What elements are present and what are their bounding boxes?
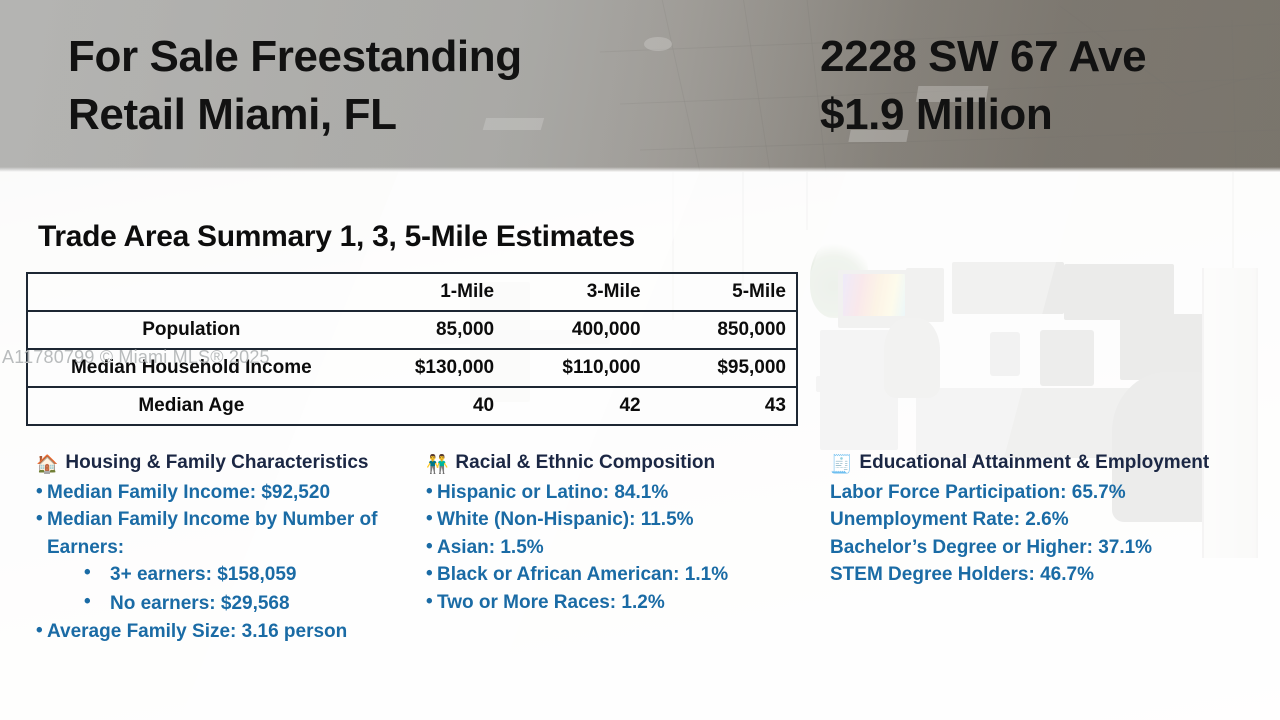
housing-sub-list: 3+ earners: $158,059 No earners: $29,568 [84,561,418,618]
cell-population-5-mile: 850,000 [651,311,797,349]
list-item: Median Family Income: $92,520 [36,479,418,507]
info-column-housing: 🏠Housing & Family Characteristics Median… [0,450,418,646]
cell-age-3-mile: 42 [504,387,650,425]
table-row: Population 85,000 400,000 850,000 [27,311,797,349]
column-heading-text: Educational Attainment & Employment [859,452,1209,473]
list-item: Hispanic or Latino: 84.1% [426,479,808,507]
list-item: Asian: 1.5% [426,534,808,562]
slide-root: For Sale Freestanding Retail Miami, FL 2… [0,0,1280,720]
housing-bullet-list: Median Family Income: $92,520 Median Fam… [36,479,418,562]
list-item: Two or More Races: 1.2% [426,589,808,617]
list-item: Average Family Size: 3.16 person [36,618,418,646]
table-header: 1-Mile 3-Mile 5-Mile [27,273,797,311]
column-heading-racial-ethnic: 👬Racial & Ethnic Composition [426,450,808,478]
list-item: White (Non-Hispanic): 11.5% [426,506,808,534]
header-text-group: For Sale Freestanding Retail Miami, FL 2… [0,0,1280,172]
column-heading-housing: 🏠Housing & Family Characteristics [36,450,418,478]
list-item: 3+ earners: $158,059 [84,561,418,590]
price-line: $1.9 Million [820,86,1146,144]
main-content: Trade Area Summary 1, 3, 5-Mile Estimate… [0,172,1280,720]
page-title: Trade Area Summary 1, 3, 5-Mile Estimate… [38,220,635,254]
header-left-block: For Sale Freestanding Retail Miami, FL [68,28,788,144]
mls-watermark: A11780799 © Miami MLS® 2025 [2,347,270,368]
table-col-header-3-mile: 3-Mile [504,273,650,311]
header-right-block: 2228 SW 67 Ave $1.9 Million [820,28,1146,144]
headline-line-1: For Sale Freestanding [68,28,788,86]
two-people-icon: 👬 [426,452,448,478]
list-item: Bachelor’s Degree or Higher: 37.1% [830,534,1238,562]
housing-bullet-list-after: Average Family Size: 3.16 person [36,618,418,646]
list-item: Black or African American: 1.1% [426,561,808,589]
cell-income-1-mile: $130,000 [355,349,504,387]
list-item: Labor Force Participation: 65.7% [830,479,1238,507]
column-heading-text: Housing & Family Characteristics [65,452,368,473]
table-corner-cell [27,273,355,311]
list-item: Median Family Income by Number of Earner… [36,506,418,561]
racial-ethnic-bullet-list: Hispanic or Latino: 84.1% White (Non-His… [426,479,808,617]
headline-line-2: Retail Miami, FL [68,86,788,144]
cell-population-3-mile: 400,000 [504,311,650,349]
table-col-header-5-mile: 5-Mile [651,273,797,311]
cell-population-1-mile: 85,000 [355,311,504,349]
column-heading-education-employment: 🧾Educational Attainment & Employment [830,450,1238,478]
list-item: No earners: $29,568 [84,590,418,619]
table-body: Population 85,000 400,000 850,000 Median… [27,311,797,425]
column-heading-text: Racial & Ethnic Composition [455,452,715,473]
education-list: Labor Force Participation: 65.7% Unemplo… [830,479,1238,589]
info-columns: 🏠Housing & Family Characteristics Median… [0,450,1280,646]
row-label-median-age: Median Age [27,387,355,425]
table-col-header-1-mile: 1-Mile [355,273,504,311]
document-icon: 🧾 [830,452,852,478]
list-item: STEM Degree Holders: 46.7% [830,561,1238,589]
header-band: For Sale Freestanding Retail Miami, FL 2… [0,0,1280,172]
cell-age-1-mile: 40 [355,387,504,425]
cell-income-3-mile: $110,000 [504,349,650,387]
address-line: 2228 SW 67 Ave [820,28,1146,86]
house-icon: 🏠 [36,452,58,478]
info-column-racial-ethnic: 👬Racial & Ethnic Composition Hispanic or… [418,450,808,646]
list-item: Unemployment Rate: 2.6% [830,506,1238,534]
cell-income-5-mile: $95,000 [651,349,797,387]
cell-age-5-mile: 43 [651,387,797,425]
table-row: Median Age 40 42 43 [27,387,797,425]
table-header-row: 1-Mile 3-Mile 5-Mile [27,273,797,311]
info-column-education-employment: 🧾Educational Attainment & Employment Lab… [808,450,1238,646]
row-label-population: Population [27,311,355,349]
